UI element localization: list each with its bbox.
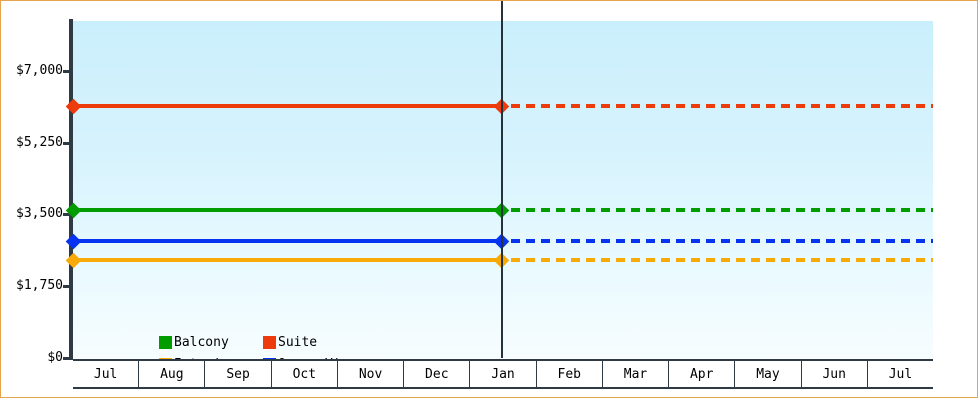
series-balcony-solid (73, 208, 503, 212)
series-suite-dashed (511, 104, 933, 108)
series-ocean-view-dashed (511, 239, 933, 243)
x-axis-cell-jun: Jun (802, 361, 868, 387)
x-axis-cell-jul-2: Jul (868, 361, 933, 387)
y-tick-label: $7,000 (1, 63, 63, 78)
y-tick-label: $0 (1, 350, 63, 365)
y-tick-label: $3,500 (1, 206, 63, 221)
series-balcony-dashed (511, 208, 933, 212)
chart-frame: $7,000 $5,250 $3,500 $1,750 $0 (0, 0, 978, 398)
legend-item-suite[interactable]: Suite (263, 331, 356, 353)
y-axis-tick (63, 142, 73, 145)
y-axis-tick (63, 70, 73, 73)
series-suite-solid (73, 104, 503, 108)
y-tick-label: $5,250 (1, 135, 63, 150)
y-axis-labels: $7,000 $5,250 $3,500 $1,750 $0 (1, 1, 63, 401)
plot-area: Today Jan. 18 Balcony Suite Interior Oce… (73, 21, 933, 358)
series-ocean-view-solid (73, 239, 503, 243)
x-axis-cell-may: May (735, 361, 801, 387)
x-axis-cell-aug: Aug (139, 361, 205, 387)
x-axis-cell-jan: Jan (470, 361, 536, 387)
series-interior-dashed (511, 258, 933, 262)
y-axis-tick (63, 357, 73, 360)
x-axis-cell-jul-1: Jul (73, 361, 139, 387)
x-axis-month-strip: Jul Aug Sep Oct Nov Dec Jan Feb Mar Apr … (73, 359, 933, 389)
series-interior-solid (73, 258, 503, 262)
x-axis-cell-dec: Dec (404, 361, 470, 387)
today-callout-stem: Today Jan. 18 (501, 1, 503, 23)
x-axis-cell-mar: Mar (603, 361, 669, 387)
legend-swatch-balcony (159, 336, 172, 349)
legend-swatch-suite (263, 336, 276, 349)
y-axis-tick (63, 285, 73, 288)
x-axis-cell-sep: Sep (205, 361, 271, 387)
x-axis-cell-feb: Feb (537, 361, 603, 387)
legend-item-balcony[interactable]: Balcony (159, 331, 263, 353)
x-axis-cell-nov: Nov (338, 361, 404, 387)
x-axis-cell-oct: Oct (272, 361, 338, 387)
today-vertical-line (501, 21, 503, 358)
x-axis-cell-apr: Apr (669, 361, 735, 387)
legend-label-suite: Suite (278, 335, 317, 350)
legend-label-balcony: Balcony (174, 335, 229, 350)
y-tick-label: $1,750 (1, 278, 63, 293)
